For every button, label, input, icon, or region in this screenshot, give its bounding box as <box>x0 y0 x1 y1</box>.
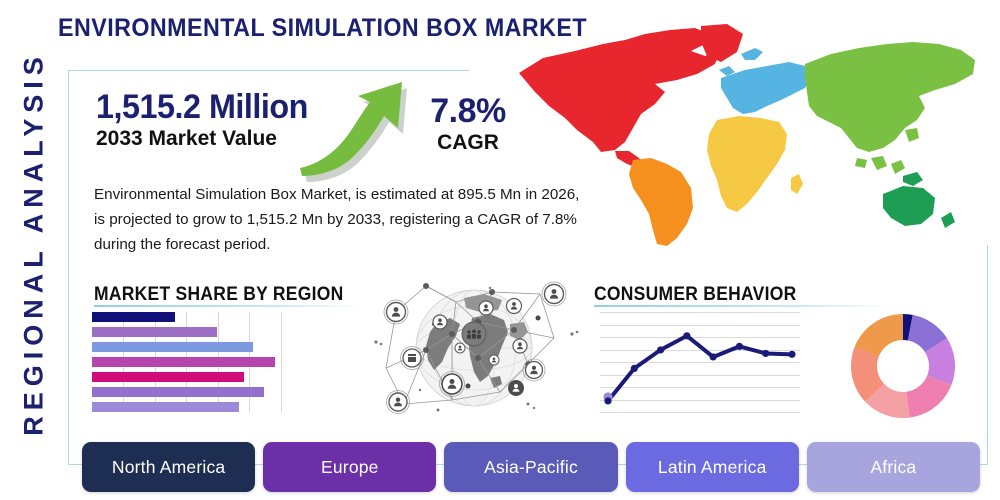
region-button-europe[interactable]: Europe <box>263 442 436 492</box>
line-data-point <box>657 346 664 353</box>
section-rule-consumer-behavior <box>594 305 894 307</box>
bar-chart-bar <box>92 402 239 412</box>
line-data-point <box>604 397 611 404</box>
kpi-cagr: 7.8% CAGR <box>408 92 528 156</box>
growth-arrow-icon <box>300 82 420 182</box>
infographic-root: REGIONAL ANALYSIS ENVIRONMENTAL SIMULATI… <box>0 0 1000 500</box>
description-text: Environmental Simulation Box Market, is … <box>94 182 594 257</box>
line-data-point <box>631 365 638 372</box>
region-button-latin-america[interactable]: Latin America <box>626 442 799 492</box>
bar-chart-bar <box>92 387 264 397</box>
region-nav: North AmericaEuropeAsia-PacificLatin Ame… <box>82 442 980 492</box>
section-title-consumer-behavior: CONSUMER BEHAVIOR <box>594 284 796 306</box>
line-data-point <box>762 350 769 357</box>
line-chart-series <box>600 312 800 412</box>
line-gridline <box>600 412 800 413</box>
section-title-market-share: MARKET SHARE BY REGION <box>94 284 344 306</box>
side-label: REGIONAL ANALYSIS <box>19 44 50 444</box>
region-button-asia-pacific[interactable]: Asia-Pacific <box>444 442 617 492</box>
global-network-globe-icon <box>368 272 580 424</box>
region-button-north-america[interactable]: North America <box>82 442 255 492</box>
bar-chart-bar <box>92 327 217 337</box>
line-data-point <box>710 353 717 360</box>
line-data-point <box>683 332 690 339</box>
bar-chart-bar <box>92 312 175 322</box>
bar-chart-bar <box>92 357 275 367</box>
market-share-bar-chart <box>92 312 312 412</box>
kpi-cagr-number: 7.8% <box>408 92 528 130</box>
consumer-behavior-line-chart <box>600 312 800 412</box>
consumer-behavior-donut-chart <box>848 311 958 421</box>
region-button-africa[interactable]: Africa <box>807 442 980 492</box>
kpi-cagr-label: CAGR <box>408 130 528 156</box>
bar-chart-bar <box>92 342 253 352</box>
section-rule-market-share <box>94 305 362 307</box>
bar-chart-bar <box>92 372 244 382</box>
line-data-point <box>736 343 743 350</box>
bar-chart-bars <box>92 312 312 412</box>
line-data-point <box>788 351 795 358</box>
